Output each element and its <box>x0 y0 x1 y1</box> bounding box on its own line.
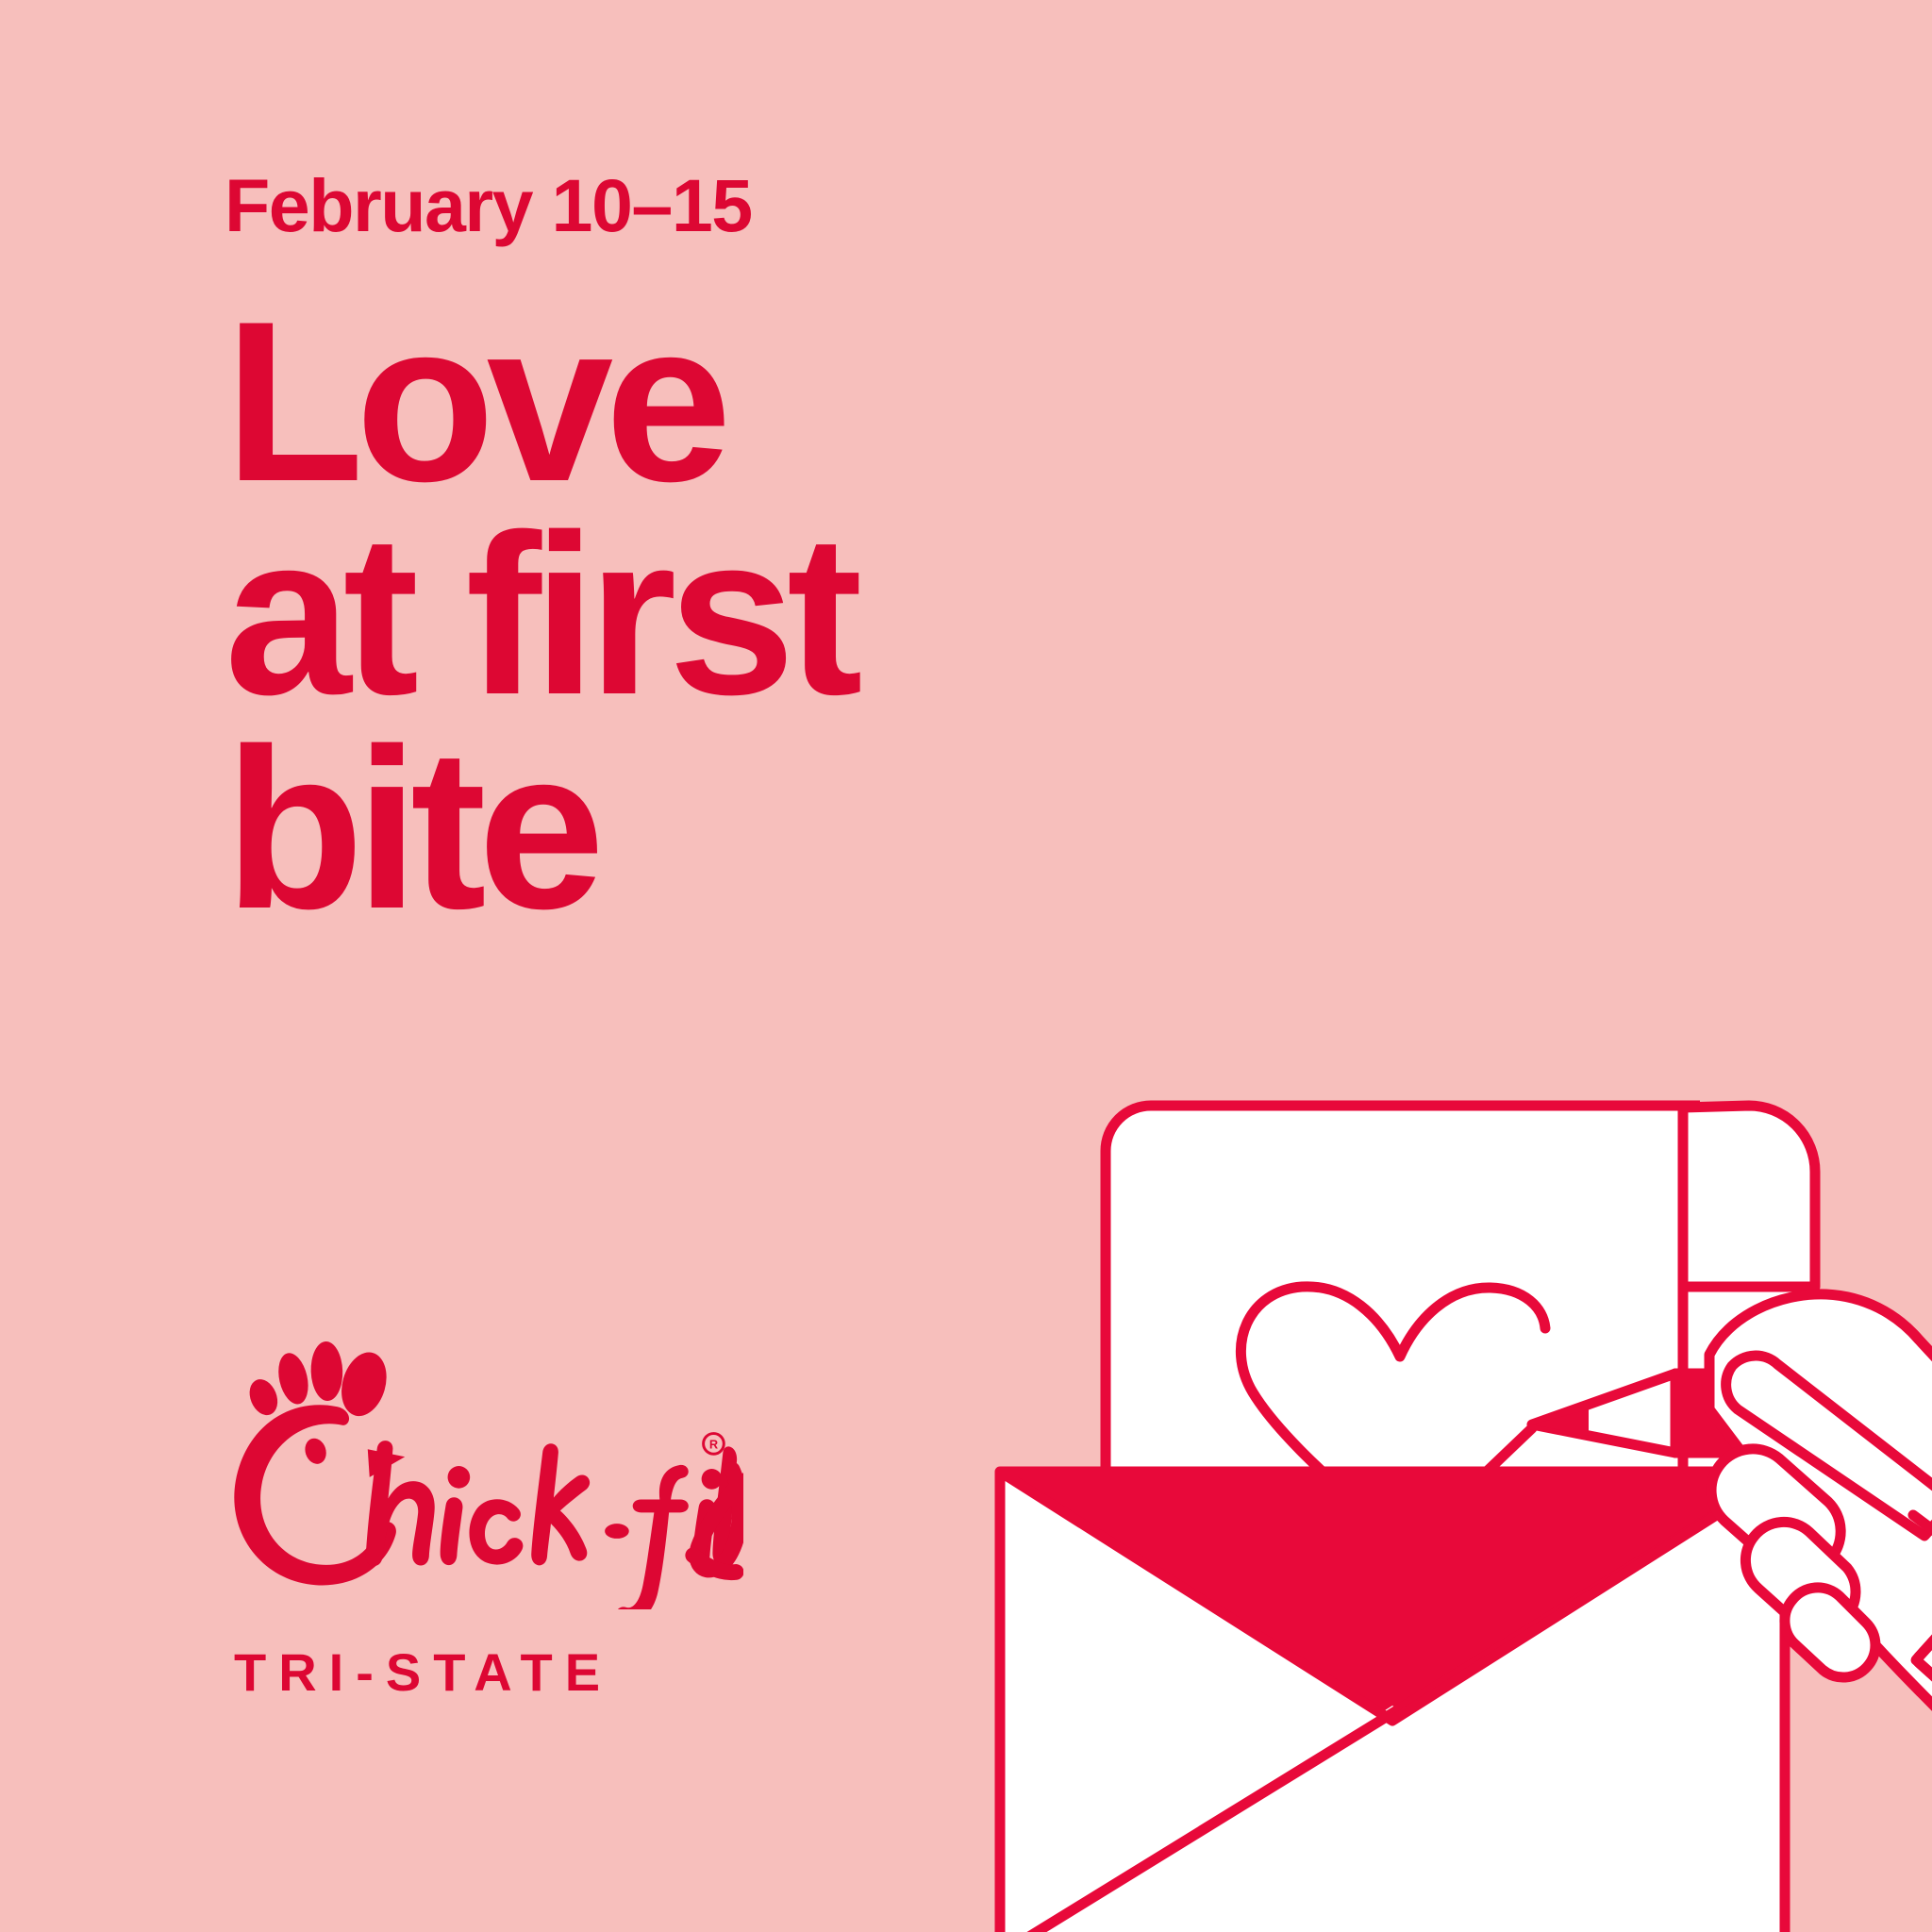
chick-fil-a-script-logo: R <box>223 1340 743 1609</box>
headline-line-2: at first <box>225 508 1262 722</box>
svg-text:R: R <box>709 1437 718 1451</box>
brand-lockup: R TRI-STATE <box>223 1340 743 1703</box>
hand-writing-love-letter-illustration <box>966 966 1932 1932</box>
promo-date-range: February 10–15 <box>225 168 1262 242</box>
envelope <box>1000 1472 1785 1932</box>
promo-poster: February 10–15 Love at first bite <box>0 0 1932 1932</box>
headline-block: February 10–15 Love at first bite <box>225 168 1262 936</box>
headline-line-3: bite <box>225 723 1262 936</box>
sub-brand-label: TRI-STATE <box>234 1641 743 1703</box>
page-title: Love at first bite <box>225 295 1262 936</box>
registered-trademark: R <box>704 1434 724 1455</box>
headline-line-1: Love <box>225 295 1262 508</box>
